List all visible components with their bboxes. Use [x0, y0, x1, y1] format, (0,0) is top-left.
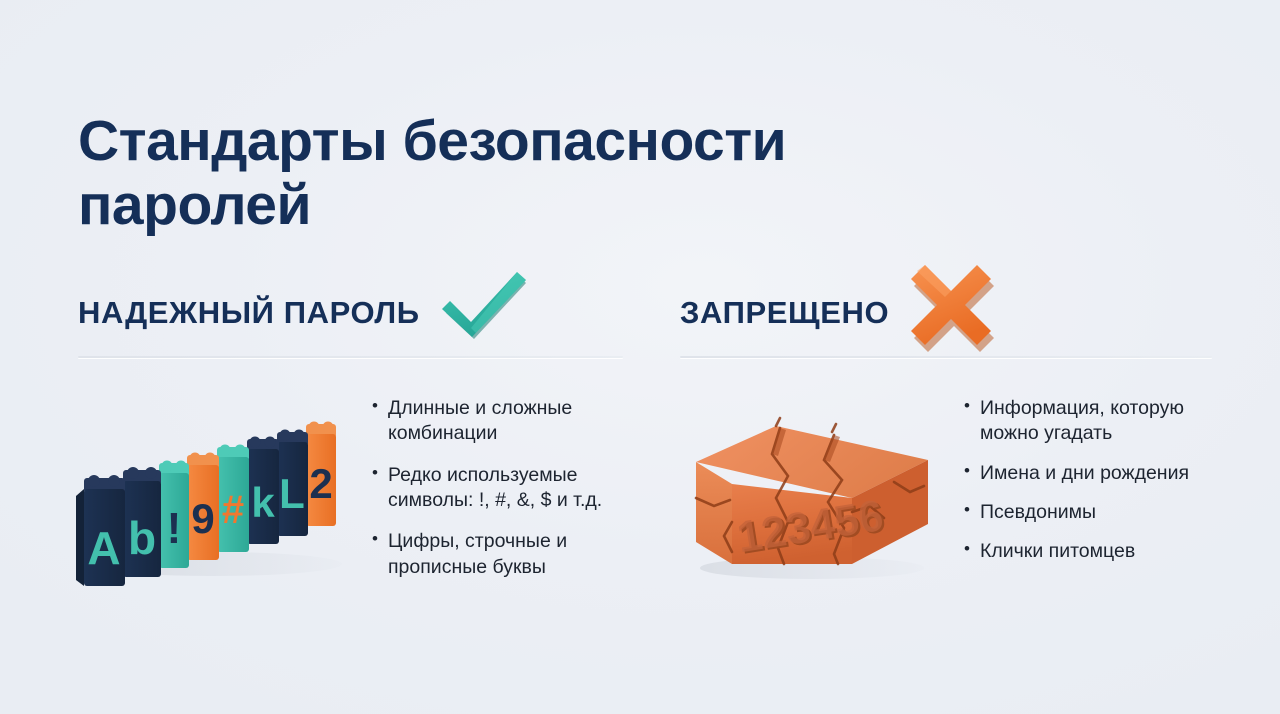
list-item: Цифры, строчные и прописные буквы — [372, 529, 622, 580]
svg-text:!: ! — [167, 504, 182, 553]
svg-text:#: # — [222, 488, 244, 532]
forbidden-header: ЗАПРЕЩЕНО — [680, 270, 1212, 356]
cracked-brick-image: 123456 123456 — [684, 402, 946, 587]
strong-password-body: 2 L k — [78, 388, 623, 587]
cross-icon — [903, 259, 999, 357]
list-item: Редко используемые символы: !, #, &, $ и… — [372, 463, 622, 514]
list-item: Информация, которую можно угадать — [964, 396, 1212, 447]
forbidden-heading: ЗАПРЕЩЕНО — [680, 295, 889, 331]
forbidden-body: 123456 123456 Информация, которую можно … — [680, 388, 1212, 587]
svg-text:9: 9 — [191, 495, 214, 542]
svg-text:2: 2 — [309, 460, 332, 507]
strong-password-header: НАДЕЖНЫЙ ПАРОЛЬ — [78, 270, 623, 356]
column-forbidden: ЗАПРЕЩЕНО — [680, 270, 1212, 587]
list-item: Имена и дни рождения — [964, 461, 1212, 486]
page-title: Стандарты безопасности паролей — [78, 110, 1038, 238]
list-item: Псевдонимы — [964, 500, 1212, 525]
svg-text:b: b — [128, 512, 156, 564]
strong-password-bullets: Длинные и сложные комбинации Редко испол… — [372, 396, 622, 580]
list-item: Клички питомцев — [964, 539, 1212, 564]
forbidden-bullets: Информация, которую можно угадать Имена … — [964, 396, 1212, 579]
check-icon — [436, 266, 532, 352]
svg-text:k: k — [251, 479, 275, 526]
column-strong-password: НАДЕЖНЫЙ ПАРОЛЬ — [78, 270, 623, 587]
list-item: Длинные и сложные комбинации — [372, 396, 622, 447]
svg-text:A: A — [87, 522, 120, 574]
strong-password-heading: НАДЕЖНЫЙ ПАРОЛЬ — [78, 295, 420, 331]
lego-blocks-password-image: 2 L k — [74, 412, 352, 587]
svg-text:L: L — [279, 470, 305, 517]
strong-password-divider — [78, 356, 623, 358]
infographic-slide: Стандарты безопасности паролей НАДЕЖНЫЙ … — [0, 0, 1280, 714]
